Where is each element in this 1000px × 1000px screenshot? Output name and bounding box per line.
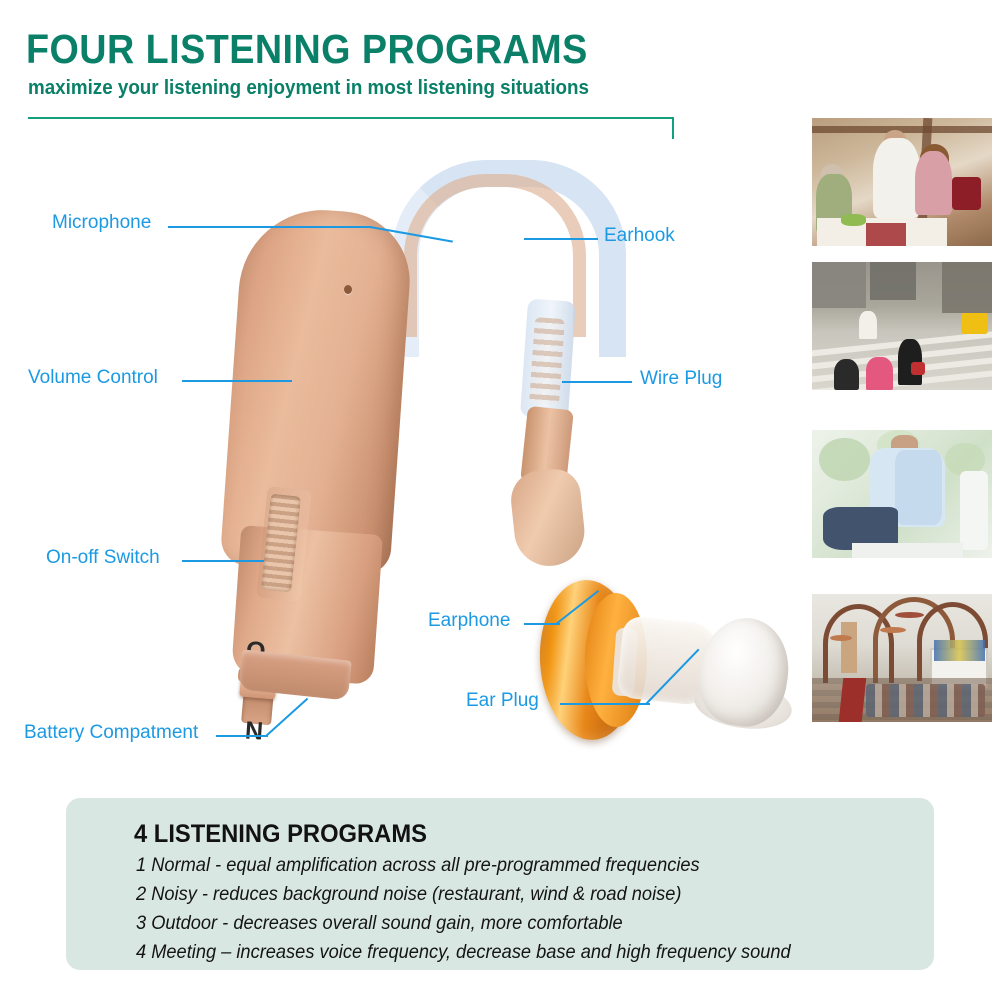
thumbnail-man-outdoors [812, 430, 992, 558]
callout-label-earhook: Earhook [604, 225, 675, 247]
callout-label-battery-compartment: Battery Compatment [24, 722, 198, 744]
header-divider-tick [672, 117, 674, 139]
programs-title: 4 LISTENING PROGRAMS [134, 820, 427, 849]
leader-line-battery-compartment [216, 735, 268, 737]
page-subtitle: maximize your listening enjoyment in mos… [28, 77, 589, 100]
callout-label-volume-control: Volume Control [28, 367, 158, 389]
leader-line-microphone [168, 226, 372, 228]
thumbnail-church [812, 594, 992, 722]
thumbnail-city-crosswalk [812, 262, 992, 390]
callout-label-wire-plug: Wire Plug [640, 368, 722, 390]
infographic-page: FOUR LISTENING PROGRAMS maximize your li… [0, 0, 1000, 1000]
leader-line-on-off-switch [182, 560, 264, 562]
wire-tube-elbow [508, 467, 588, 570]
microphone-port [344, 285, 352, 294]
device-body [220, 205, 415, 576]
leader-line-volume-control [182, 380, 292, 382]
callout-label-earphone: Earphone [428, 610, 510, 632]
thumbnail-restaurant [812, 118, 992, 246]
leader-line-wire-plug [562, 381, 632, 383]
header-divider [28, 117, 674, 119]
callout-label-on-off-switch: On-off Switch [46, 547, 160, 569]
wire-plug-ribs [529, 317, 565, 405]
switch-marking-n: N [244, 716, 264, 746]
callout-label-microphone: Microphone [52, 212, 151, 234]
page-title: FOUR LISTENING PROGRAMS [26, 26, 588, 73]
callout-label-ear-plug: Ear Plug [466, 690, 539, 712]
program-line-2: 2 Noisy - reduces background noise (rest… [136, 884, 681, 906]
program-line-4: 4 Meeting – increases voice frequency, d… [136, 942, 791, 964]
leader-line-earhook [524, 238, 598, 240]
program-line-3: 3 Outdoor - decreases overall sound gain… [136, 913, 623, 935]
program-line-1: 1 Normal - equal amplification across al… [136, 855, 700, 877]
leader-line-ear-plug [560, 703, 650, 705]
